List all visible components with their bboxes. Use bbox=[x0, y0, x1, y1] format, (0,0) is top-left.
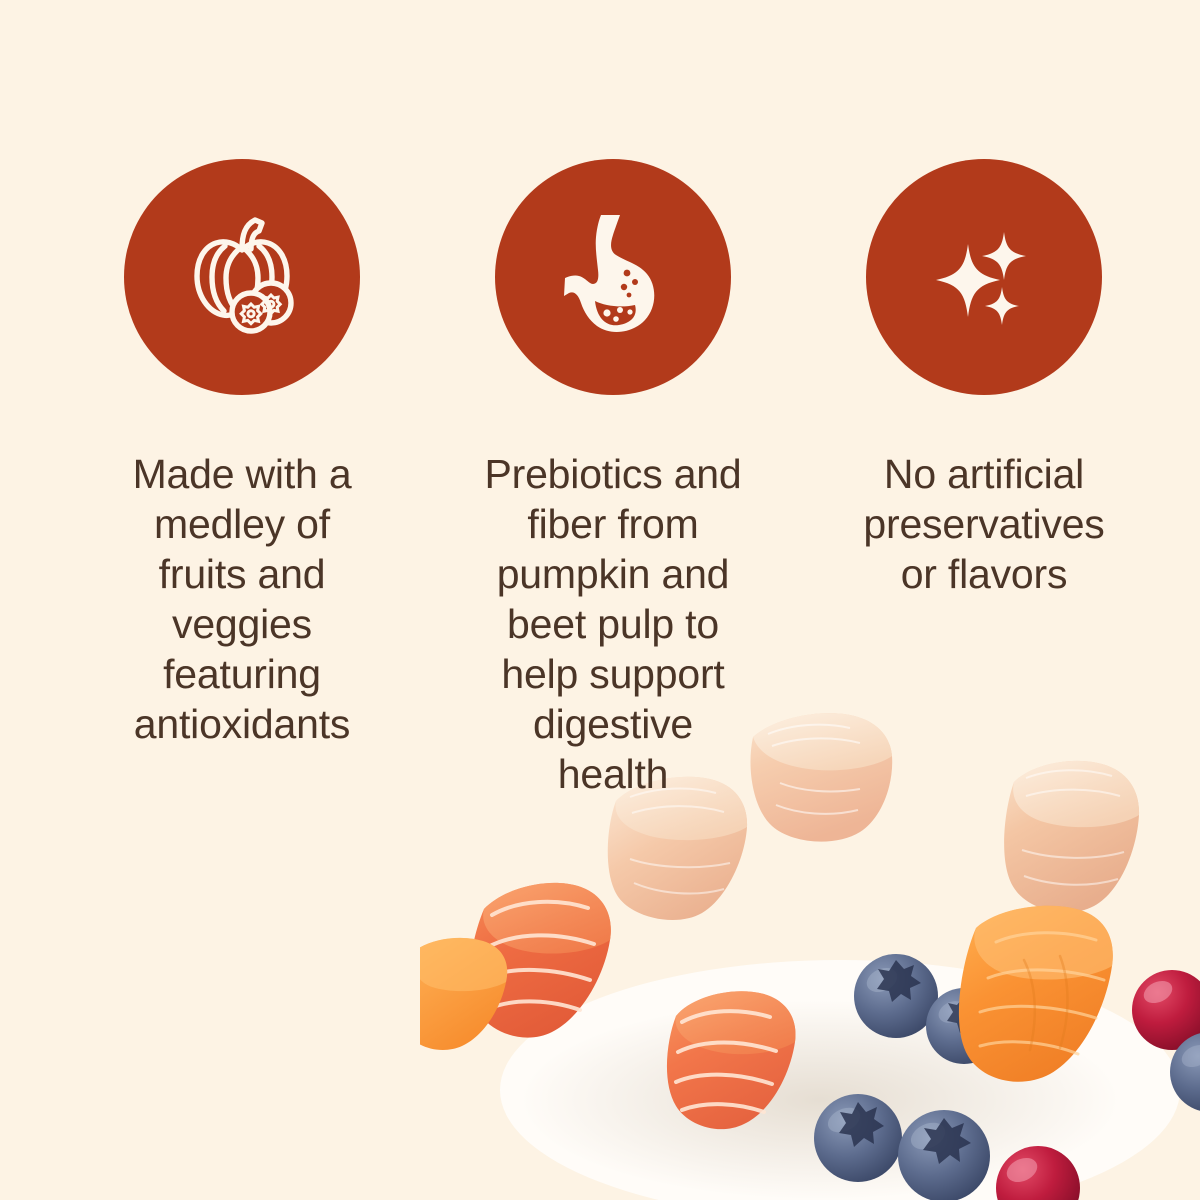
product-feature-panel: Made with a medley of fruits and veggies… bbox=[0, 0, 1200, 1200]
feature-item-label: Prebiotics and fiber from pumpkin and be… bbox=[458, 449, 768, 799]
feature-item-digestive-health: Prebiotics and fiber from pumpkin and be… bbox=[438, 0, 788, 799]
feature-item-label: No artificial preservatives or flavors bbox=[824, 449, 1144, 599]
feature-item-fruits-veggies: Made with a medley of fruits and veggies… bbox=[67, 0, 417, 749]
feature-list: Made with a medley of fruits and veggies… bbox=[0, 0, 1200, 799]
feature-item-no-artificial: No artificial preservatives or flavors bbox=[809, 0, 1159, 599]
sparkles-icon bbox=[866, 159, 1102, 395]
stomach-icon bbox=[495, 159, 731, 395]
feature-item-label: Made with a medley of fruits and veggies… bbox=[92, 449, 392, 749]
pumpkin-berries-icon bbox=[124, 159, 360, 395]
